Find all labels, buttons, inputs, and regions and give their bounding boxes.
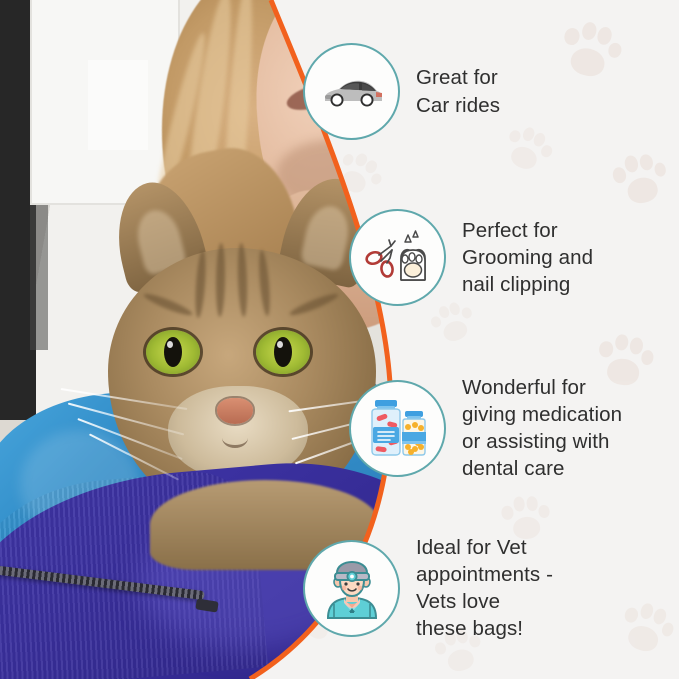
- feature-label: Wonderful for giving medication or assis…: [462, 374, 622, 482]
- feature-item-grooming[interactable]: Perfect for Grooming and nail clipping: [349, 209, 593, 306]
- feature-label: Great for Car rides: [416, 64, 500, 118]
- feature-list: Great for Car rides: [319, 0, 679, 679]
- cat-eye-left: [146, 330, 200, 374]
- feature-item-car-rides[interactable]: Great for Car rides: [303, 43, 500, 140]
- medicine-bottles-icon: [349, 380, 446, 477]
- background-poster-inner: [88, 60, 148, 150]
- car-icon: [303, 43, 400, 140]
- nail-clippers-paw-icon: [349, 209, 446, 306]
- cat-eye-right: [256, 330, 310, 374]
- cat-nose: [217, 398, 253, 424]
- veterinarian-icon: [303, 540, 400, 637]
- feature-label: Perfect for Grooming and nail clipping: [462, 217, 593, 298]
- cat-mouth: [222, 428, 248, 448]
- feature-item-medication[interactable]: Wonderful for giving medication or assis…: [349, 374, 622, 482]
- infographic-canvas: Great for Car rides: [0, 0, 679, 679]
- feature-item-vet[interactable]: Ideal for Vet appointments - Vets love t…: [303, 534, 553, 642]
- feature-label: Ideal for Vet appointments - Vets love t…: [416, 534, 553, 642]
